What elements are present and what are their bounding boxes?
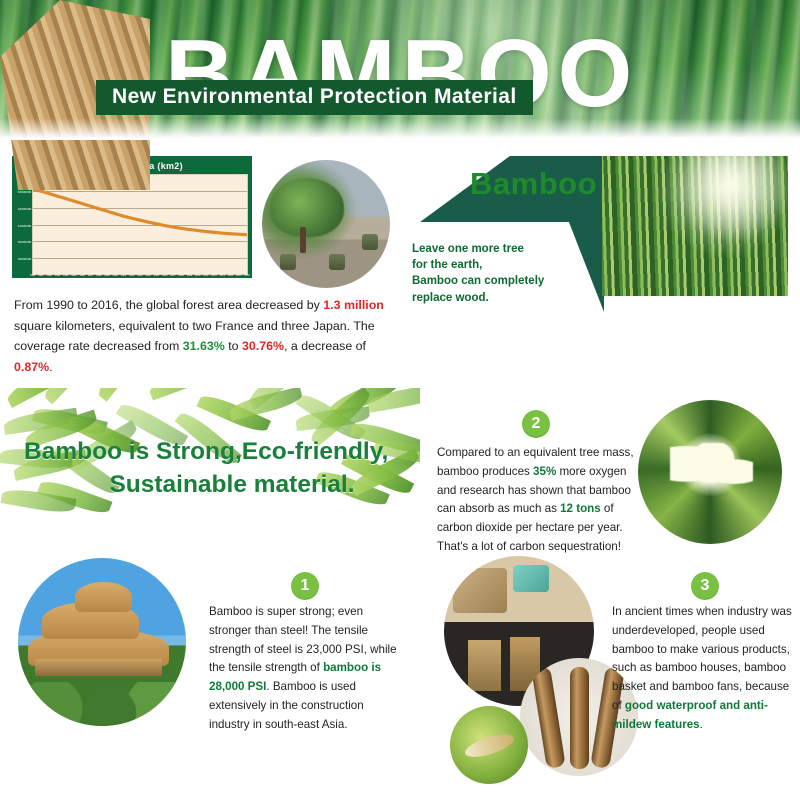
house-roof-shape [75, 582, 132, 612]
chart-x-tick: 2001 [121, 272, 126, 279]
chart-x-tick: 2004 [146, 272, 151, 279]
tree-trunk-shape [300, 227, 306, 253]
chart-x-tick: 2002 [129, 272, 134, 279]
intro-highlight-2: 31.63% [183, 339, 225, 353]
s3-text-1: In ancient times when industry was under… [612, 605, 792, 712]
hero-subtitle-ribbon: New Environmental Protection Material [96, 80, 533, 115]
s3-highlight-1: good waterproof and anti-mildew features [612, 699, 768, 731]
tree-stump-shape [329, 254, 345, 270]
intro-text-4: , a decrease of [284, 339, 366, 353]
chart-x-tick: 2003 [137, 272, 142, 279]
panel-slogan-line-1: Leave one more tree [412, 241, 544, 257]
intro-highlight-1: 1.3 million [323, 298, 384, 312]
intro-paragraph: From 1990 to 2016, the global forest are… [14, 295, 400, 377]
intro-text-5: . [49, 360, 52, 374]
product-item-shape [513, 565, 549, 592]
slogan-panel: Bamboo Leave one more tree for the earth… [408, 156, 604, 312]
headline-line-1: Bamboo is Strong,Eco-friendly, [24, 438, 388, 465]
chart-y-tick: 41000000 [18, 225, 31, 228]
bamboo-shoot-photo [450, 706, 528, 784]
intro-text-3: to [225, 339, 242, 353]
infographic-page: BAMBOO New Environmental Protection Mate… [0, 0, 800, 800]
chart-x-tick: 2011 [203, 272, 208, 279]
intro-highlight-3: 30.76% [242, 339, 284, 353]
panel-slogan-line-3: Bamboo can completely [412, 273, 544, 289]
intro-text-1: From 1990 to 2016, the global forest are… [14, 298, 323, 312]
chart-x-tick: 1999 [104, 272, 109, 279]
section-badge-1: 1 [291, 572, 319, 600]
tree-stump-shape [280, 254, 296, 270]
panel-wordmark: Bamboo [470, 166, 597, 202]
panel-slogan-line-4: replace wood. [412, 290, 544, 306]
chart-x-tick: 2006 [162, 272, 167, 279]
bamboo-leaf-icon [4, 388, 77, 408]
chart-x-tick: 1991 [38, 272, 43, 279]
chart-x-tick: 1992 [47, 272, 52, 279]
section-paragraph-2: Compared to an equivalent tree mass, bam… [437, 444, 642, 557]
chart-x-axis: 1990199119921993199419951996199719981999… [28, 272, 252, 279]
chart-x-tick: 1993 [55, 272, 60, 279]
chart-x-tick: 1997 [88, 272, 93, 279]
chart-x-tick: 1990 [30, 272, 35, 279]
panel-slogan: Leave one more tree for the earth, Bambo… [412, 241, 544, 306]
chart-x-tick: 2013 [220, 272, 225, 279]
section-badge-2: 2 [522, 410, 550, 438]
product-item-shape [468, 640, 501, 691]
chart-x-tick: 2005 [154, 272, 159, 279]
chart-x-tick: 2014 [228, 272, 233, 279]
chart-x-tick: 2016 [244, 272, 249, 279]
section-paragraph-3: In ancient times when industry was under… [612, 603, 800, 734]
bamboo-leaf-icon [93, 388, 152, 402]
bamboo-leaf-icon [40, 388, 104, 404]
s3-text-2: . [700, 718, 703, 731]
s2-highlight-1: 35% [533, 465, 556, 478]
s2-highlight-2: 12 tons [560, 502, 601, 515]
chart-y-tick: 40000000 [18, 241, 31, 244]
chart-x-tick: 1998 [96, 272, 101, 279]
product-item-shape [453, 568, 507, 613]
chart-x-tick: 2010 [195, 272, 200, 279]
bamboo-house-photo [18, 558, 186, 726]
chart-x-tick: 2000 [113, 272, 118, 279]
headline: Bamboo is Strong,Eco-friendly, Sustainab… [24, 436, 414, 502]
bamboo-shoot-shape [463, 730, 517, 762]
chart-x-tick: 1994 [63, 272, 68, 279]
chart-x-tick: 2015 [236, 272, 241, 279]
house-deck-shape [35, 659, 163, 676]
chart-x-tick: 2009 [187, 272, 192, 279]
section-paragraph-1: Bamboo is super strong; even stronger th… [209, 603, 405, 734]
bamboo-pole-shape [531, 667, 566, 770]
hero-fade [0, 118, 800, 140]
chart-x-tick: 2012 [211, 272, 216, 279]
chart-x-tick: 1996 [80, 272, 85, 279]
sunlit-bamboo-grove-photo [602, 156, 788, 296]
intro-highlight-4: 0.87% [14, 360, 49, 374]
headline-line-2: Sustainable material. [24, 469, 414, 502]
deforested-tree-photo [262, 160, 390, 288]
tree-canopy-shape [270, 178, 344, 237]
chart-x-tick: 2007 [170, 272, 175, 279]
world-map-shape [670, 443, 754, 495]
chart-x-tick: 2008 [179, 272, 184, 279]
chart-y-tick: 39000000 [18, 258, 31, 261]
tree-stump-shape [362, 234, 378, 250]
bamboo-pole-shape [570, 667, 589, 768]
panel-slogan-line-2: for the earth, [412, 257, 544, 273]
section-badge-3: 3 [691, 572, 719, 600]
chart-y-tick: 43000000 [18, 191, 31, 194]
bamboo-canopy-world-map-photo [638, 400, 782, 544]
house-garden-shape [18, 682, 186, 726]
chart-y-tick: 42000000 [18, 208, 31, 211]
chart-x-tick: 1995 [71, 272, 76, 279]
